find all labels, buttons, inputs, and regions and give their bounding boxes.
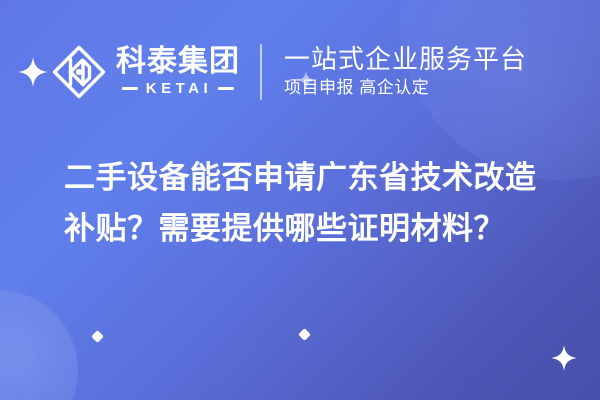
logo-rule-right: [218, 87, 234, 90]
decorative-diamond-dot: [300, 330, 309, 339]
logo-chinese-name: 科泰集团: [116, 47, 240, 78]
logo-english-row: KETAI: [116, 80, 240, 97]
page-title-line-1: 二手设备能否申请广东省技术改造: [64, 152, 554, 203]
sparkle-icon: [297, 71, 315, 94]
page-title: 二手设备能否申请广东省技术改造 补贴？需要提供哪些证明材料？: [64, 152, 554, 254]
sparkle-icon: [551, 345, 577, 376]
logo-english-name: KETAI: [146, 80, 212, 97]
logo-rule-left: [122, 87, 138, 90]
decorative-diamond-dot: [93, 332, 102, 341]
ketai-diamond-monogram-icon: [48, 41, 110, 103]
tagline-block: 一站式企业服务平台 项目申报 高企认定: [284, 45, 527, 98]
page-title-line-2: 补贴？需要提供哪些证明材料？: [64, 203, 554, 254]
logo-wordmark: 科泰集团 KETAI: [116, 47, 240, 97]
tagline-main: 一站式企业服务平台: [284, 45, 527, 74]
promo-banner: 科泰集团 KETAI 一站式企业服务平台 项目申报 高企认定 二手设备能否申请广…: [0, 0, 600, 400]
banner-header: 科泰集团 KETAI 一站式企业服务平台 项目申报 高企认定: [0, 38, 600, 106]
header-divider: [260, 44, 262, 100]
background-blob-left: [0, 290, 78, 400]
sparkle-icon: [16, 57, 50, 87]
tagline-sub: 项目申报 高企认定: [284, 77, 527, 98]
